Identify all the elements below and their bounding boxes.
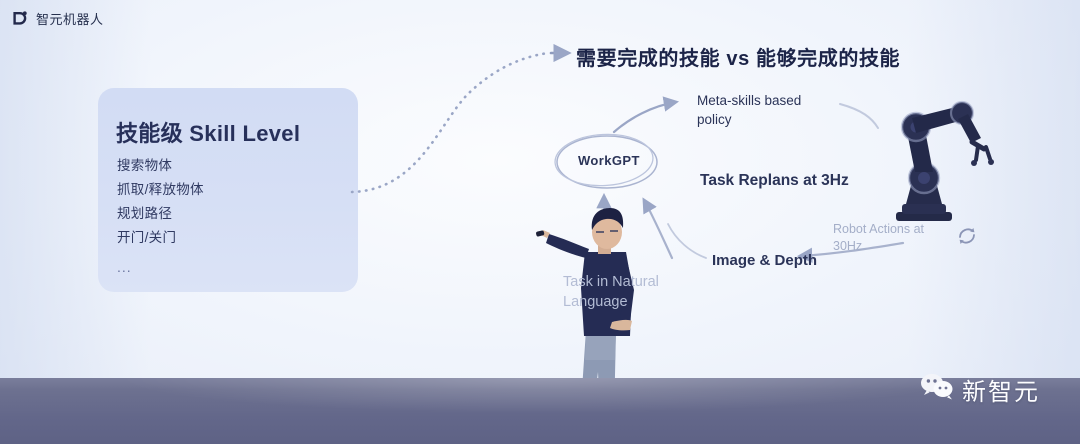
stage-floor-sheen xyxy=(0,378,1080,444)
watermark: 新智元 xyxy=(920,372,1040,407)
curved-arrow-left-icon xyxy=(668,224,706,258)
industrial-robot-arm-icon xyxy=(896,102,994,221)
refresh-cycle-icon xyxy=(960,228,975,244)
node-workgpt-label: WorkGPT xyxy=(578,153,640,168)
arrow-up-icon xyxy=(644,200,672,258)
wechat-logo-icon xyxy=(920,373,954,406)
label-task-natural-language: Task in Natural Language xyxy=(563,272,693,312)
curved-arrow-up-right-icon xyxy=(614,102,676,132)
slide-screenshot: 智元机器人 技能级 Skill Level 搜索物体 抓取/释放物体 规划路径 … xyxy=(0,0,1080,444)
label-robot-actions: Robot Actions at 30Hz xyxy=(833,221,953,255)
watermark-text: 新智元 xyxy=(962,372,1040,407)
label-task-replans: Task Replans at 3Hz xyxy=(700,172,849,190)
dotted-curve-connector-icon xyxy=(352,53,548,192)
label-image-depth: Image & Depth xyxy=(712,251,817,271)
slide-headline: 需要完成的技能 vs 能够完成的技能 xyxy=(576,42,900,71)
label-meta-skills: Meta-skills based policy xyxy=(697,91,827,129)
curved-arrow-left-icon xyxy=(840,104,878,128)
